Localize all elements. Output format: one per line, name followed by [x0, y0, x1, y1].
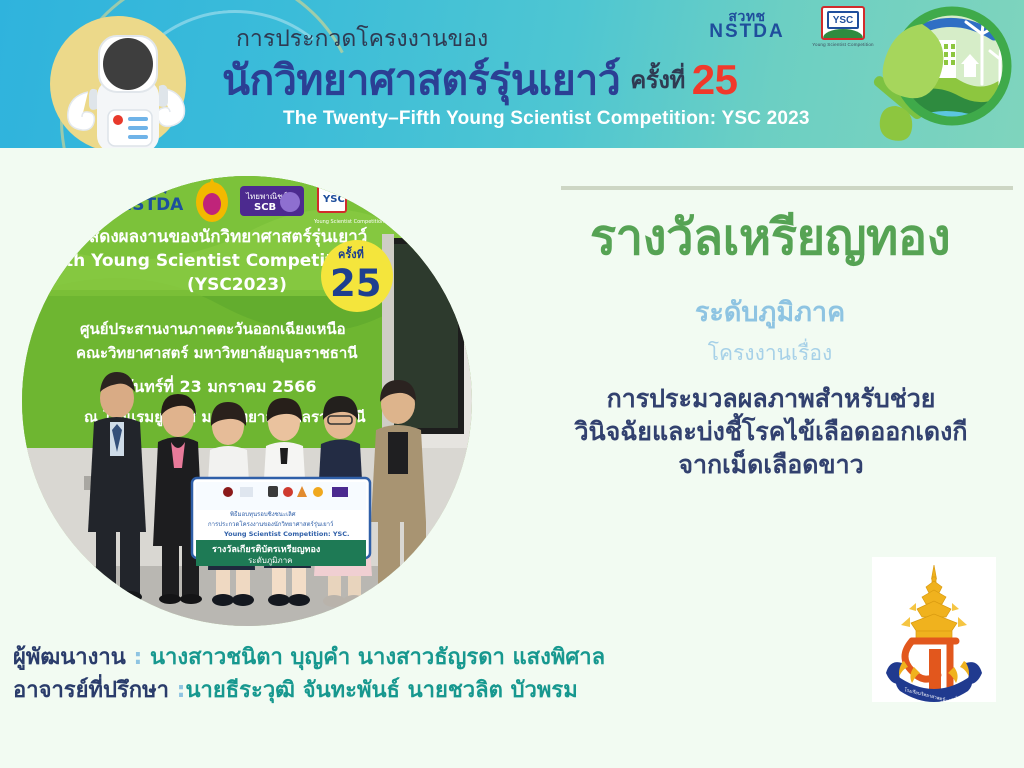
- placard-line-2: การประกวดโครงงานของนักวิทยาศาสตร์รุ่นเยา…: [208, 520, 333, 528]
- placard-line-1: พิธีมอบทุนรอบชิงชนะเลิศ: [230, 510, 296, 518]
- project-label: โครงงานเรื่อง: [520, 337, 1020, 370]
- astronaut-illustration: [22, 6, 232, 148]
- advisors-value: นายธีระวุฒิ จันทะพันธ์ นายชวลิต บัวพรม: [185, 678, 577, 703]
- photo-banner-date: วันจันทร์ที่ 23 มกราคม 2566: [104, 375, 317, 396]
- svg-text:25: 25: [330, 262, 382, 305]
- advisors-label: อาจารย์ที่ปรึกษา: [13, 678, 169, 703]
- project-title-line-2: วินิจฉัยและบ่งชี้โรคไข้เลือดออกเดงกี: [530, 415, 1012, 448]
- placard-award-1: รางวัลเกียรติบัตรเหรียญทอง: [212, 544, 320, 555]
- svg-text:YSC: YSC: [322, 194, 345, 205]
- award-title: รางวัลเหรียญทอง: [520, 198, 1020, 276]
- nstda-logo: สวทช NSTDA: [695, 10, 799, 52]
- advisors-row: อาจารย์ที่ปรึกษา :นายธีระวุฒิ จันทะพันธ์…: [13, 675, 733, 708]
- developers-colon: :: [133, 645, 142, 670]
- award-placard: พิธีมอบทุนรอบชิงชนะเลิศ การประกวดโครงงาน…: [192, 478, 370, 566]
- school-emblem: โรงเรียนวิทยาศาสตร์ จุฬาภรณ์ บุรีรัมย์: [872, 557, 996, 702]
- photo-content: NSTDA ไทยพาณิชย์ SCB YSC Young Scientist…: [22, 176, 472, 626]
- svg-text:SCB: SCB: [254, 202, 276, 213]
- developers-value: นางสาวชนิตา บุญคำ นางสาวธัญรดา แสงพิศาล: [150, 645, 605, 670]
- magnifier-eco-illustration: [834, 0, 1024, 148]
- title-divider: [561, 186, 1013, 190]
- astronaut-icon: [52, 14, 202, 148]
- photo-banner-faculty: คณะวิทยาศาสตร์ มหาวิทยาลัยอุบลราชธานี: [76, 344, 358, 363]
- developers-row: ผู้พัฒนางาน : นางสาวชนิตา บุญคำ นางสาวธั…: [13, 642, 733, 675]
- svg-text:NSTDA: NSTDA: [118, 195, 184, 215]
- banner-edition-number: 25: [692, 56, 738, 103]
- project-title-line-1: การประมวลผลภาพสำหรับช่วย: [530, 382, 1012, 415]
- award-ceremony-photo: NSTDA ไทยพาณิชย์ SCB YSC Young Scientist…: [22, 176, 472, 626]
- placard-award-2: ระดับภูมิภาค: [248, 556, 293, 566]
- photo-banner-code: (YSC2023): [187, 275, 287, 295]
- project-title: การประมวลผลภาพสำหรับช่วย วินิจฉัยและบ่งช…: [530, 382, 1012, 481]
- svg-text:Young Scientist Competition: Young Scientist Competition: [313, 219, 384, 225]
- photo-banner-center: ศูนย์ประสานงานภาคตะวันออกเฉียงเหนือ: [80, 320, 346, 339]
- svg-text:ครั้งที่: ครั้งที่: [338, 246, 364, 261]
- banner-edition-label: ครั้งที่: [630, 66, 684, 94]
- banner-title-text: นักวิทยาศาสตร์รุ่นเยาว์: [222, 56, 620, 104]
- developers-label: ผู้พัฒนางาน: [13, 645, 126, 670]
- project-title-line-3: จากเม็ดเลือดขาว: [530, 448, 1012, 481]
- banner-title-thai: นักวิทยาศาสตร์รุ่นเยาว์ครั้งที่25: [222, 48, 738, 113]
- award-level: ระดับภูมิภาค: [520, 290, 1020, 333]
- banner-title-english: The Twenty–Fifth Young Scientist Competi…: [283, 108, 810, 130]
- header-banner: สวทช NSTDA YSC Young Scientist Competiti…: [0, 0, 1024, 148]
- photo-banner-thai: การจัดแสดงผลงานของนักวิทยาศาสตร์รุ่นเยาว…: [28, 226, 367, 247]
- nstda-logo-latin: NSTDA: [695, 22, 799, 41]
- placard-line-3: Young Scientist Competition: YSC.: [223, 530, 349, 538]
- school-emblem-art: โรงเรียนวิทยาศาสตร์ จุฬาภรณ์ บุรีรัมย์: [872, 557, 996, 702]
- credits-block: ผู้พัฒนางาน : นางสาวชนิตา บุญคำ นางสาวธั…: [13, 642, 733, 707]
- photo-banner-english: y-Fifth Young Scientist Competition: [22, 251, 363, 271]
